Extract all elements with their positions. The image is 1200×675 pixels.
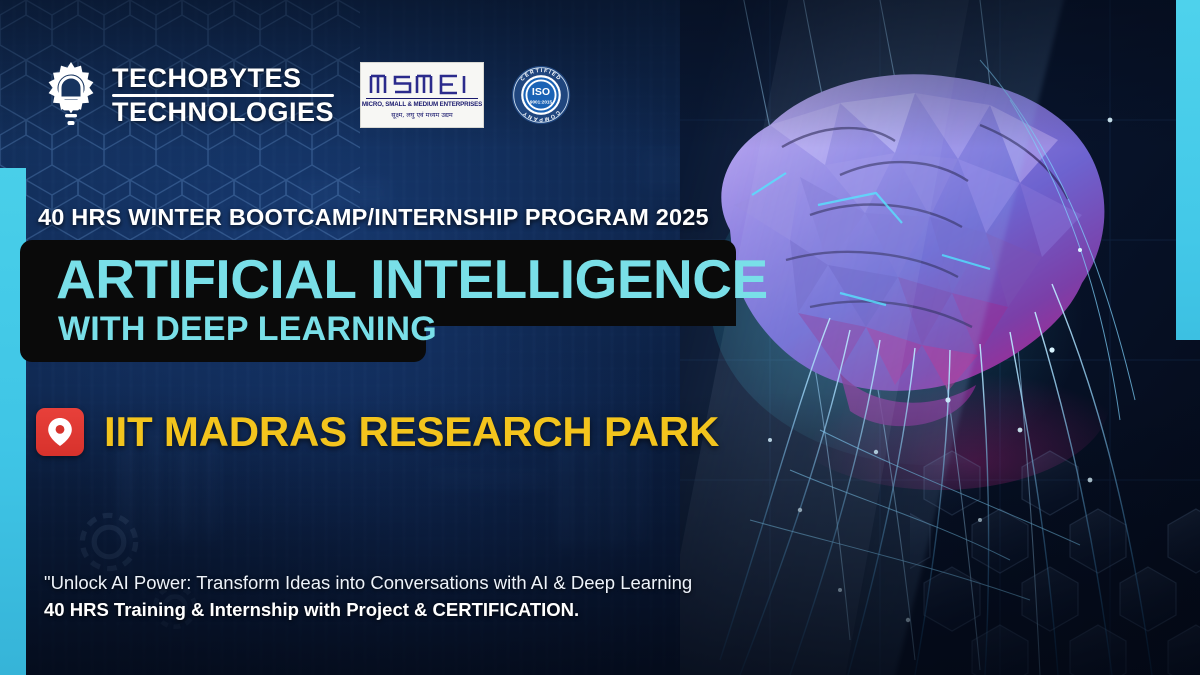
msme-logo: MICRO, SMALL & MEDIUM ENTERPRISES सूक्ष्… bbox=[360, 62, 484, 128]
tagline-line2: 40 HRS Training & Internship with Projec… bbox=[44, 597, 692, 624]
page-title: ARTIFICIAL INTELLIGENCE bbox=[56, 252, 768, 307]
brand-name-line1: TECHOBYTES bbox=[112, 65, 334, 91]
gear-icon bbox=[72, 505, 146, 579]
techobytes-wordmark: TECHOBYTES TECHNOLOGIES bbox=[112, 65, 334, 125]
msme-subtitle: MICRO, SMALL & MEDIUM ENTERPRISES bbox=[362, 101, 482, 108]
venue-row: IIT MADRAS RESEARCH PARK bbox=[36, 408, 719, 456]
iso-certified-badge: ISO 9001:2015 CERTIFIED COMPANY bbox=[510, 64, 572, 126]
page-subtitle: WITH DEEP LEARNING bbox=[58, 312, 437, 346]
msme-hindi-subtitle: सूक्ष्म, लघु एवं मध्यम उद्यम bbox=[391, 110, 452, 119]
logo-row: TECHOBYTES TECHNOLOGIES bbox=[40, 60, 572, 130]
tagline-block: "Unlock AI Power: Transform Ideas into C… bbox=[44, 570, 692, 624]
hexagon-grid-icon bbox=[910, 441, 1200, 675]
gear-lightbulb-icon bbox=[40, 60, 102, 130]
poster-root: TECHOBYTES TECHNOLOGIES bbox=[0, 0, 1200, 675]
location-pin-icon bbox=[47, 417, 73, 447]
right-accent-bar bbox=[1176, 0, 1200, 340]
tagline-line1: "Unlock AI Power: Transform Ideas into C… bbox=[44, 570, 692, 597]
msme-wordmark-icon bbox=[367, 72, 477, 96]
msme-divider bbox=[366, 98, 478, 99]
location-pin-badge bbox=[36, 408, 84, 456]
venue-name: IIT MADRAS RESEARCH PARK bbox=[104, 408, 719, 456]
iso-main-text: ISO bbox=[532, 86, 550, 98]
brand-name-line2: TECHNOLOGIES bbox=[112, 99, 334, 125]
program-eyebrow: 40 HRS WINTER BOOTCAMP/INTERNSHIP PROGRA… bbox=[38, 204, 709, 231]
brain-graphic bbox=[680, 0, 1200, 675]
techobytes-logo: TECHOBYTES TECHNOLOGIES bbox=[40, 60, 334, 130]
headline-block: ARTIFICIAL INTELLIGENCE WITH DEEP LEARNI… bbox=[20, 240, 736, 362]
iso-standard-text: 9001:2015 bbox=[530, 100, 553, 105]
